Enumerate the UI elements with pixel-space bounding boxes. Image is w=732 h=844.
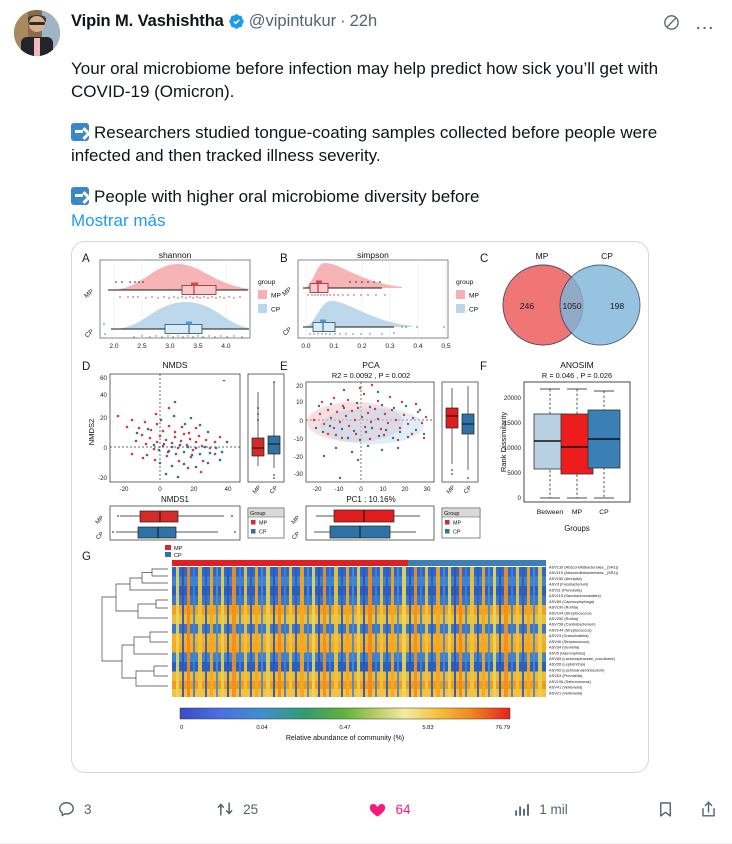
- svg-text:198: 198: [610, 301, 624, 311]
- svg-text:5.83: 5.83: [422, 725, 433, 731]
- display-name[interactable]: Vipin M. Vashishtha: [71, 11, 224, 31]
- heatmap-row-label: ASV758 (Cardiobacterium): [549, 622, 596, 627]
- heatmap-row-label: ASV144 (Streptococcus): [549, 627, 592, 632]
- ellipsis-icon[interactable]: …: [695, 17, 717, 29]
- heatmap-row-label: ASV139 (Absconditabacteriales._(SR1)): [549, 565, 619, 570]
- heatmap-row-label: ASV26 (Leptotrichia): [549, 662, 586, 667]
- reply-button[interactable]: 3: [57, 800, 215, 819]
- svg-text:Between: Between: [537, 509, 564, 516]
- svg-text:0: 0: [300, 418, 304, 425]
- tweet-media-figure[interactable]: A shannon: [71, 241, 649, 773]
- share-icon: [699, 800, 718, 819]
- svg-text:G: G: [82, 551, 91, 563]
- heatmap-row-label: ASV104 (Streptococcus): [549, 610, 592, 615]
- header-actions: …: [662, 13, 717, 32]
- svg-text:MP: MP: [536, 251, 549, 261]
- heatmap-row-label: ASV115 (Saccharimonadales): [549, 593, 602, 598]
- views-count: 1 mil: [539, 802, 568, 817]
- heatmap-row-label: ASV23 (Granulicatella): [549, 633, 589, 638]
- svg-text:-10: -10: [335, 486, 345, 493]
- svg-text:R2 = 0.0092 , P = 0.002: R2 = 0.0092 , P = 0.002: [332, 371, 410, 380]
- retweet-icon: [215, 799, 235, 819]
- avatar[interactable]: [14, 10, 60, 56]
- svg-text:A: A: [82, 253, 90, 265]
- tweet-paragraph-3: People with higher oral microbiome diver…: [94, 187, 480, 206]
- svg-text:MP: MP: [271, 293, 281, 300]
- svg-text:0: 0: [518, 495, 522, 502]
- svg-text:30: 30: [424, 486, 431, 493]
- heatmap-row-label: ASV150 (Amnipila): [549, 576, 583, 581]
- svg-text:Groups: Groups: [564, 524, 590, 533]
- svg-text:-20: -20: [98, 475, 108, 482]
- svg-text:Group: Group: [250, 511, 266, 517]
- svg-text:NMDS1: NMDS1: [161, 495, 190, 504]
- svg-text:10: 10: [296, 399, 303, 406]
- svg-text:20: 20: [296, 383, 303, 390]
- svg-text:NMDS: NMDS: [162, 360, 187, 370]
- heatmap-row-label: ASV190 (Rothia): [549, 605, 579, 610]
- heatmap-row-label: ASV65 (Lachnospiraceae_uncultured): [549, 656, 615, 661]
- retweet-button[interactable]: 25: [215, 799, 368, 819]
- svg-text:MP: MP: [259, 521, 267, 527]
- svg-text:MP: MP: [252, 485, 263, 496]
- svg-text:MP: MP: [453, 521, 461, 527]
- svg-text:0.2: 0.2: [357, 343, 366, 350]
- verified-badge-icon: [228, 13, 245, 30]
- svg-text:0.47: 0.47: [339, 725, 350, 731]
- right-arrow-emoji-icon-2: [71, 187, 89, 205]
- tweet-paragraph-2-wrap: Researchers studied tongue-coating sampl…: [71, 122, 718, 167]
- svg-text:CP: CP: [84, 328, 96, 340]
- heatmap-row-label: ASV21 (Veillonella): [549, 690, 583, 695]
- svg-text:MP: MP: [83, 288, 96, 300]
- heatmap-row-label: ASV92 (Lachnoanaerobaculum): [549, 667, 605, 672]
- svg-text:20: 20: [402, 486, 409, 493]
- svg-text:0.0: 0.0: [301, 343, 310, 350]
- like-count: 64: [395, 802, 410, 817]
- timestamp[interactable]: 22h: [350, 11, 378, 31]
- svg-text:shannon: shannon: [159, 250, 192, 260]
- svg-text:CP: CP: [259, 530, 267, 536]
- svg-text:-20: -20: [120, 486, 130, 493]
- like-button[interactable]: 64: [368, 800, 512, 819]
- not-interested-icon[interactable]: [662, 13, 681, 32]
- svg-text:-30: -30: [294, 471, 304, 478]
- svg-text:CP: CP: [469, 307, 479, 314]
- svg-text:0: 0: [158, 486, 162, 493]
- svg-text:20000: 20000: [504, 395, 522, 402]
- heatmap-row-label: ASV34 (Gemella): [549, 645, 580, 650]
- bookmark-button[interactable]: [656, 800, 675, 819]
- svg-text:MP: MP: [95, 515, 106, 526]
- heatmap-row-label: ASV46 (Streptococcus): [549, 639, 590, 644]
- svg-text:0.04: 0.04: [256, 725, 268, 731]
- svg-text:simpson: simpson: [357, 250, 389, 260]
- svg-text:0: 0: [104, 445, 108, 452]
- svg-text:MP: MP: [291, 515, 302, 526]
- svg-text:CP: CP: [291, 531, 301, 541]
- show-more-link[interactable]: Mostrar más: [71, 210, 165, 233]
- heatmap-row-label: ASV119 (Absconditabacteriales._(SR1)): [549, 570, 619, 575]
- svg-text:group: group: [258, 279, 276, 286]
- svg-text:20: 20: [100, 415, 107, 422]
- heatmap-row-label: ASV11 (Prevotella): [549, 587, 583, 592]
- share-button[interactable]: [699, 800, 718, 819]
- bookmark-icon: [656, 800, 675, 819]
- svg-text:E: E: [280, 361, 288, 373]
- heatmap-row-label: ASV250 (Rothia): [549, 616, 579, 621]
- svg-text:MP: MP: [446, 485, 457, 496]
- svg-text:R = 0.046 , P = 0.026: R = 0.046 , P = 0.026: [542, 371, 612, 380]
- svg-text:C: C: [480, 253, 488, 265]
- svg-text:PC1 : 10.16%: PC1 : 10.16%: [346, 495, 395, 504]
- heatmap-row-label: ASV106 (Selenomonas): [549, 679, 591, 684]
- svg-text:B: B: [280, 253, 288, 265]
- svg-text:5000: 5000: [507, 470, 521, 477]
- heatmap-row-label: ASV89 (Capnocytophaga): [549, 599, 595, 604]
- svg-text:NMDS2: NMDS2: [87, 419, 96, 446]
- svg-text:PCA: PCA: [362, 360, 380, 370]
- svg-text:4.0: 4.0: [221, 343, 230, 350]
- heatmap-row-label: ASV41 (Veillonella): [549, 685, 583, 690]
- svg-text:-10: -10: [294, 436, 304, 443]
- heatmap-row-label: ASV5 (Haemophilus): [549, 650, 586, 655]
- svg-text:0.1: 0.1: [329, 343, 338, 350]
- tweet-card: Vipin M. Vashishtha @vipintukur · 22h … …: [0, 0, 732, 844]
- svg-text:CP: CP: [599, 509, 609, 516]
- svg-text:1050: 1050: [563, 301, 582, 311]
- svg-text:MP: MP: [469, 293, 479, 300]
- svg-text:0.3: 0.3: [385, 343, 394, 350]
- svg-text:60: 60: [100, 375, 107, 382]
- svg-text:0: 0: [359, 486, 363, 493]
- tweet-paragraph-3-wrap: People with higher oral microbiome diver…: [71, 186, 718, 209]
- svg-text:0.5: 0.5: [441, 343, 450, 350]
- svg-text:2.5: 2.5: [137, 343, 146, 350]
- heart-filled-icon: [368, 800, 387, 819]
- svg-text:10: 10: [380, 486, 387, 493]
- svg-text:CP: CP: [463, 485, 473, 495]
- heatmap-row-label: ASV63 (Prevotella): [549, 673, 583, 678]
- tweet-text: Your oral microbiome before infection ma…: [71, 58, 718, 232]
- svg-text:F: F: [480, 361, 487, 373]
- svg-text:group: group: [456, 279, 474, 286]
- svg-text:Rank Dissimilarity: Rank Dissimilarity: [499, 412, 508, 473]
- svg-text:0.4: 0.4: [413, 343, 422, 350]
- analytics-icon: [512, 800, 531, 819]
- svg-text:CP: CP: [271, 307, 281, 314]
- svg-text:-20: -20: [294, 454, 304, 461]
- tweet-paragraph-2: Researchers studied tongue-coating sampl…: [71, 123, 657, 165]
- handle[interactable]: @vipintukur: [249, 11, 336, 31]
- svg-text:CP: CP: [95, 531, 105, 541]
- svg-text:MP: MP: [174, 546, 183, 552]
- svg-text:20: 20: [191, 486, 198, 493]
- svg-text:CP: CP: [453, 530, 461, 536]
- svg-text:3.5: 3.5: [193, 343, 202, 350]
- svg-text:MP: MP: [572, 509, 583, 516]
- comment-icon: [57, 800, 76, 819]
- tweet-actions: 3 25 64 1 mil: [57, 792, 718, 826]
- svg-text:76.79: 76.79: [495, 725, 510, 731]
- svg-text:-20: -20: [313, 486, 323, 493]
- svg-text:0: 0: [180, 725, 183, 731]
- scientific-figure: A shannon: [72, 242, 649, 773]
- svg-text:40: 40: [225, 486, 232, 493]
- svg-text:CP: CP: [269, 485, 279, 495]
- retweet-count: 25: [243, 802, 258, 817]
- separator-dot: ·: [340, 11, 346, 31]
- views-button[interactable]: 1 mil: [512, 800, 656, 819]
- svg-text:CP: CP: [174, 553, 182, 559]
- svg-text:2.0: 2.0: [109, 343, 118, 350]
- heatmap-row-label: ASV3 (Fusobacterium): [549, 582, 589, 587]
- reply-count: 3: [84, 802, 92, 817]
- svg-text:246: 246: [520, 301, 534, 311]
- svg-text:Group: Group: [444, 511, 460, 517]
- svg-text:ANOSIM: ANOSIM: [560, 360, 594, 370]
- tweet-header: Vipin M. Vashishtha @vipintukur · 22h: [14, 10, 718, 56]
- right-arrow-emoji-icon: [71, 123, 89, 141]
- author-block: Vipin M. Vashishtha @vipintukur · 22h: [71, 10, 718, 31]
- svg-text:CP: CP: [282, 326, 294, 338]
- svg-text:MP: MP: [281, 286, 294, 298]
- svg-text:3.0: 3.0: [165, 343, 174, 350]
- svg-text:40: 40: [100, 392, 107, 399]
- svg-text:Relative abundance of communit: Relative abundance of community (%): [286, 735, 404, 742]
- svg-text:CP: CP: [601, 251, 613, 261]
- tweet-paragraph-1: Your oral microbiome before infection ma…: [71, 58, 718, 103]
- svg-text:D: D: [82, 361, 90, 373]
